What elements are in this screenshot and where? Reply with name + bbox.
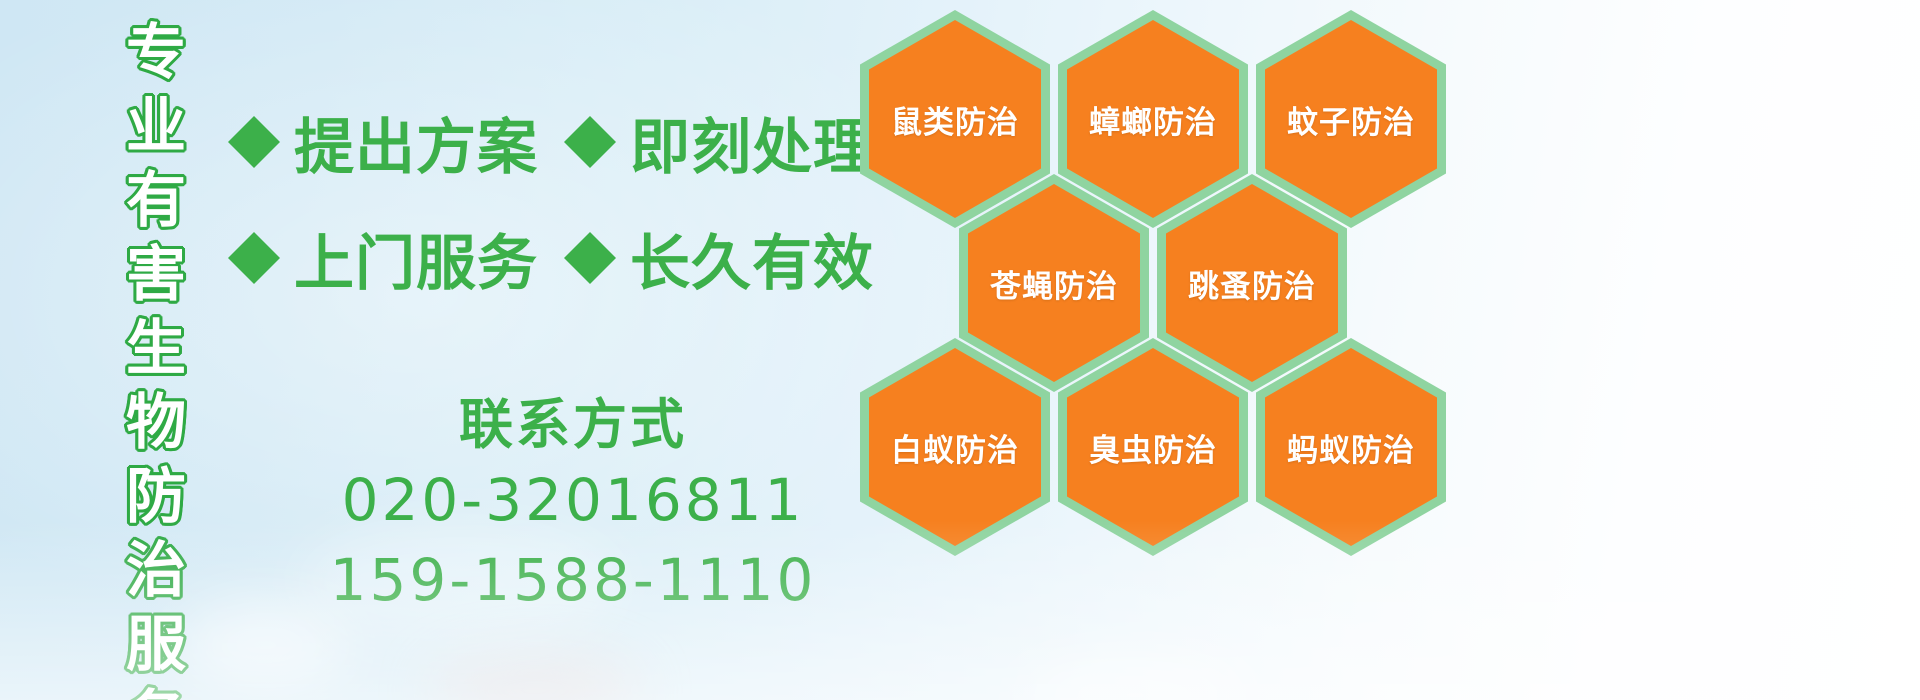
feature-list: 提出方案 即刻处理 上门服务 长久有效 bbox=[228, 84, 868, 316]
vertical-title-char: 有 bbox=[126, 164, 186, 238]
background-glow-b bbox=[430, 655, 640, 700]
promo-banner: 专 业 有 害 生 物 防 治 服 务 提出方案 即刻处理 上门服务 bbox=[0, 0, 1920, 700]
vertical-title-char: 治 bbox=[126, 534, 186, 608]
feature-label: 上门服务 bbox=[294, 215, 538, 302]
feature-label: 提出方案 bbox=[294, 99, 538, 186]
service-label: 鼠类防治 bbox=[891, 97, 1019, 142]
diamond-bullet-icon bbox=[228, 206, 280, 258]
service-label: 蚊子防治 bbox=[1287, 97, 1415, 142]
contact-block: 联系方式 020-32016811 159-1588-1110 bbox=[228, 390, 918, 620]
vertical-title-char: 防 bbox=[126, 460, 186, 534]
feature-item-propose-plan: 提出方案 bbox=[228, 99, 538, 186]
service-hex-bedbug[interactable]: 臭虫防治 bbox=[1058, 338, 1248, 556]
feature-item-onsite-service: 上门服务 bbox=[228, 215, 538, 302]
vertical-title-char: 生 bbox=[126, 312, 186, 386]
service-hex-ant[interactable]: 蚂蚁防治 bbox=[1256, 338, 1446, 556]
vertical-title-char: 害 bbox=[126, 238, 186, 312]
service-honeycomb: 鼠类防治 蟑螂防治 蚊子防治 苍蝇防治 跳蚤防治 白蚁防治 bbox=[860, 0, 1460, 700]
contact-phone-landline[interactable]: 020-32016811 bbox=[228, 460, 918, 540]
service-label: 蚂蚁防治 bbox=[1287, 425, 1415, 470]
service-label: 蟑螂防治 bbox=[1089, 97, 1217, 142]
vertical-title-char: 业 bbox=[126, 90, 186, 164]
feature-item-long-lasting: 长久有效 bbox=[564, 215, 874, 302]
diamond-bullet-icon bbox=[564, 206, 616, 258]
service-label: 白蚁防治 bbox=[891, 425, 1019, 470]
service-label: 臭虫防治 bbox=[1089, 425, 1217, 470]
vertical-title-char: 务 bbox=[126, 682, 186, 700]
vertical-title-char: 专 bbox=[126, 16, 186, 90]
feature-item-immediate-handling: 即刻处理 bbox=[564, 99, 874, 186]
contact-heading: 联系方式 bbox=[228, 390, 918, 460]
contact-phone-mobile[interactable]: 159-1588-1110 bbox=[228, 540, 918, 620]
service-label: 跳蚤防治 bbox=[1188, 261, 1316, 306]
feature-row: 上门服务 长久有效 bbox=[228, 200, 868, 316]
feature-label: 长久有效 bbox=[630, 215, 874, 302]
vertical-title-char: 物 bbox=[126, 386, 186, 460]
vertical-title-char: 服 bbox=[126, 608, 186, 682]
diamond-bullet-icon bbox=[564, 90, 616, 142]
feature-label: 即刻处理 bbox=[630, 99, 874, 186]
service-label: 苍蝇防治 bbox=[990, 261, 1118, 306]
service-hex-termite[interactable]: 白蚁防治 bbox=[860, 338, 1050, 556]
diamond-bullet-icon bbox=[228, 90, 280, 142]
feature-row: 提出方案 即刻处理 bbox=[228, 84, 868, 200]
vertical-title: 专 业 有 害 生 物 防 治 服 务 bbox=[108, 16, 204, 696]
